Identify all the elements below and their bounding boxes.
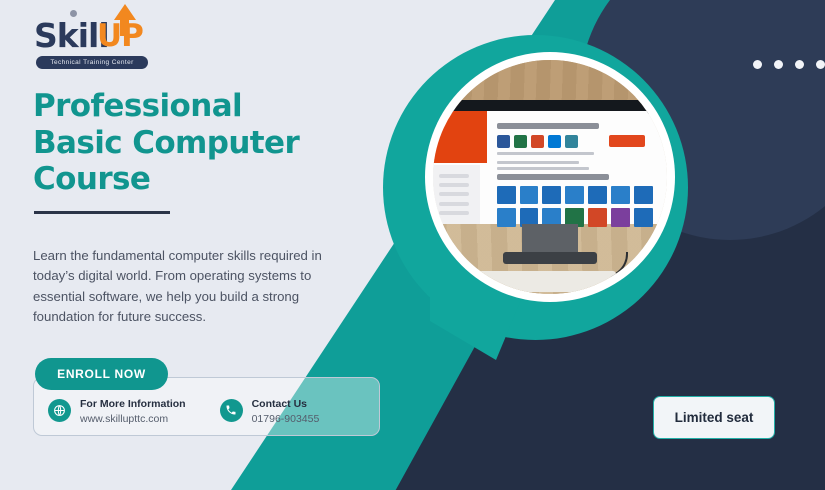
- tile: [634, 208, 653, 227]
- tile: [497, 208, 516, 227]
- phone-number: 01796-903455: [252, 412, 320, 426]
- logo-tagline: Technical Training Center: [36, 56, 148, 69]
- panel-line: [439, 192, 469, 196]
- contact-us-text: Contact Us 01796-903455: [252, 394, 320, 426]
- screen-left-panel: [433, 165, 480, 223]
- tile: [634, 186, 653, 205]
- dot: [753, 60, 762, 69]
- more-information-item[interactable]: For More Information www.skillupttc.com: [48, 394, 186, 426]
- screen-sidebar-banner: [433, 111, 487, 163]
- mouse: [625, 266, 649, 281]
- logo-text-accent: UP: [97, 18, 143, 54]
- globe-icon: [48, 399, 71, 422]
- dot: [795, 60, 804, 69]
- tile: [588, 208, 607, 227]
- screen-heading-collaborate: [497, 174, 609, 180]
- decorative-dots: [753, 60, 825, 69]
- contact-details: For More Information www.skillupttc.com …: [48, 394, 319, 426]
- word-icon: [497, 135, 510, 148]
- panel-line: [439, 174, 469, 178]
- office-app-icons: [497, 135, 578, 148]
- course-photo: [433, 60, 667, 294]
- website-url: www.skillupttc.com: [80, 412, 186, 426]
- panel-line: [439, 183, 469, 187]
- title-divider: [34, 211, 170, 214]
- panel-line: [439, 202, 469, 206]
- more-information-text: For More Information www.skillupttc.com: [80, 394, 186, 426]
- tile: [542, 186, 561, 205]
- contact-us-title: Contact Us: [252, 398, 307, 410]
- tile: [611, 208, 630, 227]
- brand-logo[interactable]: Skill UP Technical Training Center: [34, 14, 154, 76]
- screen-text-line: [497, 152, 594, 155]
- office-online-tiles: [497, 186, 653, 228]
- tile: [520, 186, 539, 205]
- limited-seat-badge[interactable]: Limited seat: [653, 396, 775, 439]
- logo-wordmark: Skill UP: [34, 14, 154, 54]
- banner-line: [433, 126, 439, 131]
- screen-heading-install: [497, 123, 599, 129]
- hero-description: Learn the fundamental computer skills re…: [33, 246, 323, 328]
- promo-banner: Skill UP Technical Training Center Profe…: [0, 0, 825, 490]
- outlook-icon: [548, 135, 561, 148]
- onenote-icon: [565, 135, 578, 148]
- monitor-screen: [433, 111, 667, 223]
- dot: [816, 60, 825, 69]
- tile: [565, 186, 584, 205]
- enroll-now-button[interactable]: ENROLL NOW: [35, 358, 168, 390]
- tile: [497, 186, 516, 205]
- screen-text-line: [497, 167, 589, 170]
- keyboard: [447, 271, 615, 292]
- dot: [774, 60, 783, 69]
- screen-text-line: [497, 161, 580, 164]
- tile: [611, 186, 630, 205]
- page-title: Professional Basic Computer Course: [33, 88, 333, 198]
- tile: [588, 186, 607, 205]
- more-information-title: For More Information: [80, 398, 186, 410]
- powerpoint-icon: [531, 135, 544, 148]
- phone-icon: [220, 399, 243, 422]
- screen-install-button: [609, 135, 645, 147]
- contact-us-item[interactable]: Contact Us 01796-903455: [220, 394, 320, 426]
- panel-line: [439, 211, 469, 215]
- monitor-stand: [522, 224, 578, 254]
- excel-icon: [514, 135, 527, 148]
